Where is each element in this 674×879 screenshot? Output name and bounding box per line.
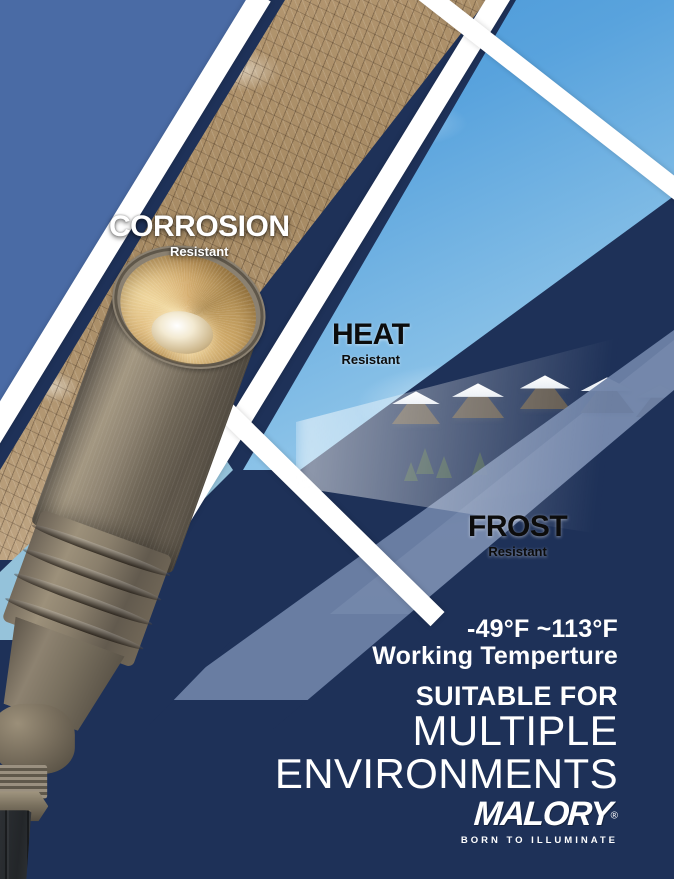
badge-heat-title: HEAT bbox=[332, 320, 409, 350]
headline-suitable-for: SUITABLE FOR bbox=[275, 683, 618, 710]
headline-multiple: MULTIPLE bbox=[275, 710, 618, 753]
badge-corrosion-subtitle: Resistant bbox=[109, 245, 290, 258]
badge-heat: HEAT Resistant bbox=[332, 320, 409, 366]
working-temperature-label: Working Temperture bbox=[275, 642, 618, 670]
pine-tree-3 bbox=[404, 462, 418, 481]
badge-heat-subtitle: Resistant bbox=[332, 353, 409, 366]
cabin-1 bbox=[392, 392, 440, 424]
badge-corrosion: CORROSION Resistant bbox=[109, 212, 290, 258]
brand-logo: MALORY® BORN TO ILLUMINATE bbox=[461, 797, 618, 846]
cabin-3 bbox=[520, 376, 570, 409]
pine-tree-1 bbox=[416, 448, 434, 474]
badge-corrosion-title: CORROSION bbox=[109, 212, 290, 242]
badge-frost: FROST Resistant bbox=[468, 512, 567, 558]
headline-block: -49°F ~113°F Working Temperture SUITABLE… bbox=[275, 616, 618, 796]
poster-canvas: CORROSION Resistant HEAT Resistant FROST… bbox=[0, 0, 674, 879]
badge-frost-subtitle: Resistant bbox=[468, 545, 567, 558]
brand-tagline: BORN TO ILLUMINATE bbox=[461, 836, 618, 846]
headline-environments: ENVIRONMENTS bbox=[275, 753, 618, 796]
badge-frost-title: FROST bbox=[468, 512, 567, 542]
brand-wordmark: MALORY bbox=[472, 797, 611, 831]
registered-trademark-icon: ® bbox=[611, 810, 618, 821]
pine-tree-2 bbox=[436, 456, 452, 478]
cabin-2 bbox=[452, 384, 504, 418]
working-temperature-range: -49°F ~113°F bbox=[275, 616, 618, 642]
